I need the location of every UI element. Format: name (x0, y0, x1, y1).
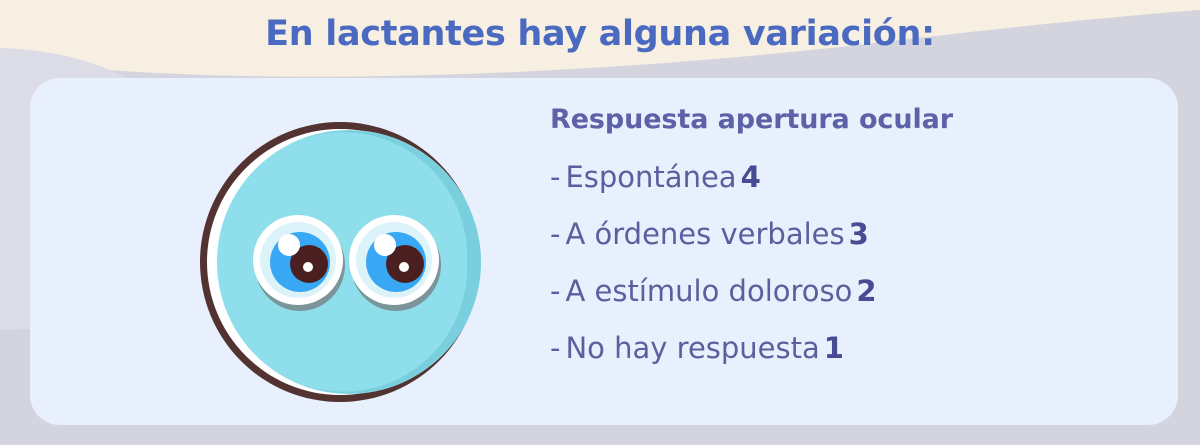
left-eye-pupil-glint (303, 262, 313, 272)
list-item-label: A estímulo doloroso (565, 274, 852, 308)
list-item: -A órdenes verbales3 (550, 206, 1150, 263)
list-item-dash: - (550, 274, 560, 308)
slide-root: En lactantes hay alguna variación: (0, 0, 1200, 445)
list-item-dash: - (550, 160, 560, 194)
list-item-label: Espontánea (565, 160, 736, 194)
list-item-label: A órdenes verbales (565, 217, 844, 251)
baby-face-illustration (190, 112, 490, 412)
answer-heading: Respuesta apertura ocular (550, 104, 1150, 135)
left-eye-highlight (278, 234, 300, 256)
list-item-score: 3 (849, 217, 869, 251)
list-item: -No hay respuesta1 (550, 320, 1150, 377)
right-eye-highlight (374, 234, 396, 256)
answer-panel: Respuesta apertura ocular -Espontánea4 -… (550, 104, 1150, 377)
list-item: -Espontánea4 (550, 149, 1150, 206)
list-item-label: No hay respuesta (565, 331, 819, 365)
page-title: En lactantes hay alguna variación: (0, 14, 1200, 54)
list-item-score: 1 (824, 331, 844, 365)
list-item-dash: - (550, 331, 560, 365)
answer-list: -Espontánea4 -A órdenes verbales3 -A est… (550, 149, 1150, 377)
list-item: -A estímulo doloroso2 (550, 263, 1150, 320)
list-item-dash: - (550, 217, 560, 251)
list-item-score: 4 (741, 160, 761, 194)
list-item-score: 2 (856, 274, 876, 308)
right-eye-pupil-glint (399, 262, 409, 272)
content-card: Respuesta apertura ocular -Espontánea4 -… (30, 78, 1178, 425)
